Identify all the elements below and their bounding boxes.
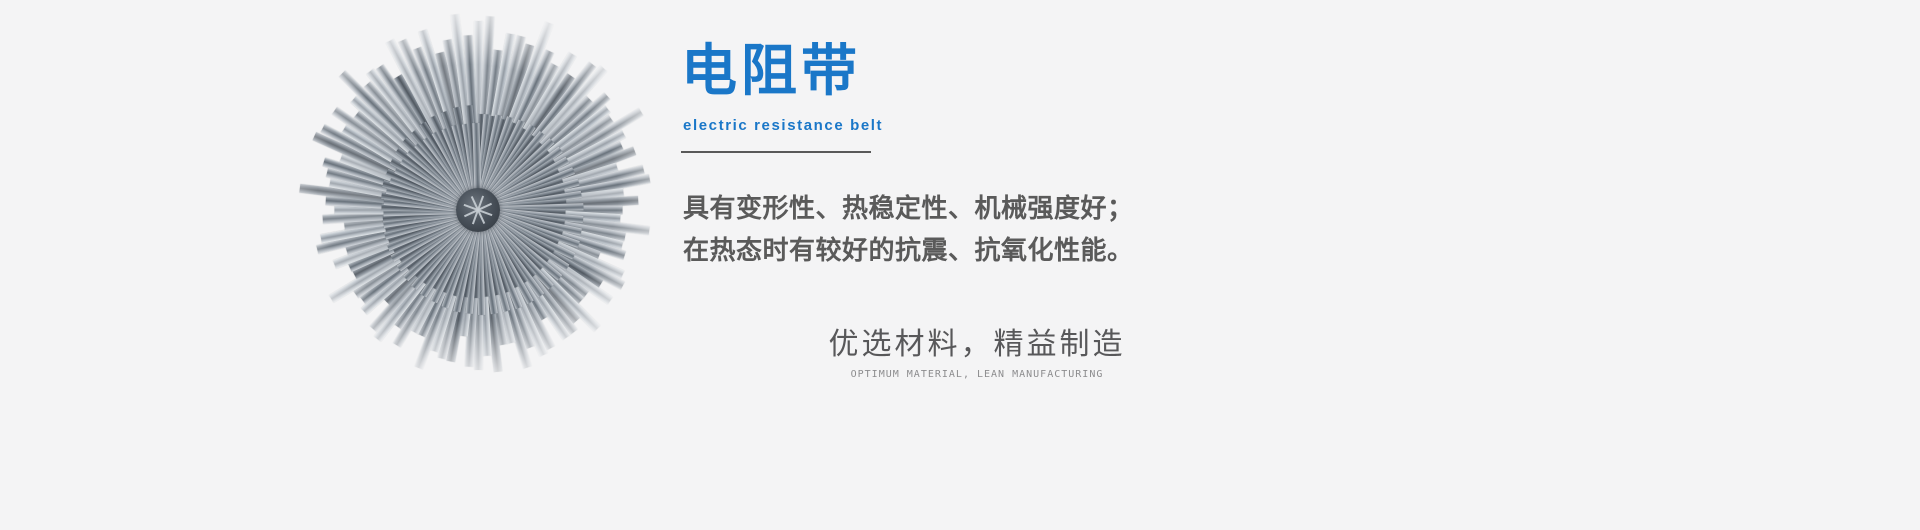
description-line-2: 在热态时有较好的抗震、抗氧化性能。 — [683, 230, 1134, 272]
title-divider — [681, 151, 871, 153]
product-banner: 电阻带 electric resistance belt 具有变形性、热稳定性、… — [0, 0, 1920, 530]
page-title: 电阻带 — [681, 44, 861, 100]
text-column: 电阻带 electric resistance belt 具有变形性、热稳定性、… — [681, 0, 1581, 530]
slogan-block: 优选材料，精益制造 OPTIMUM MATERIAL, LEAN MANUFAC… — [777, 325, 1177, 380]
description-line-1: 具有变形性、热稳定性、机械强度好； — [683, 188, 1134, 230]
page-subtitle: electric resistance belt — [683, 117, 883, 134]
slogan-english: OPTIMUM MATERIAL, LEAN MANUFACTURING — [777, 369, 1177, 380]
product-image — [288, 30, 668, 390]
product-description: 具有变形性、热稳定性、机械强度好； 在热态时有较好的抗震、抗氧化性能。 — [683, 188, 1134, 272]
slogan-chinese: 优选材料，精益制造 — [777, 325, 1177, 365]
